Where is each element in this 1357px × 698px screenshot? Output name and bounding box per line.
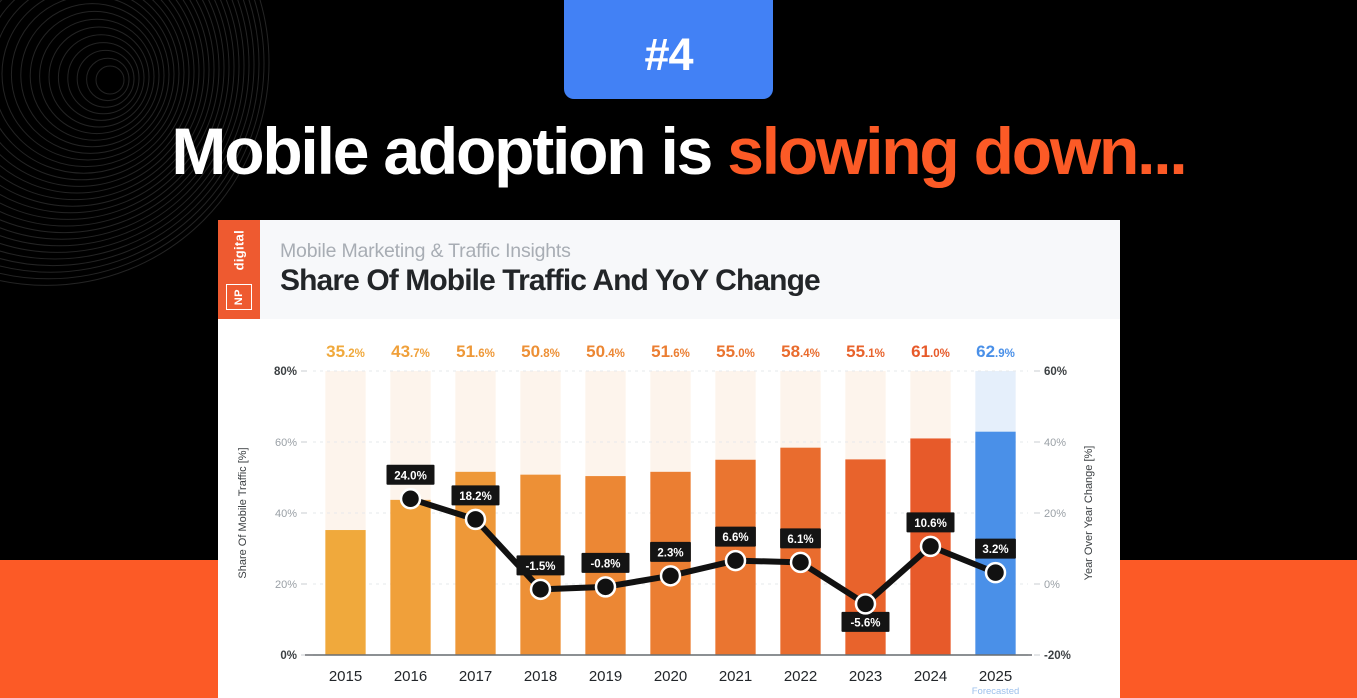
svg-text:Year Over Year Change [%]: Year Over Year Change [%]: [1083, 446, 1095, 581]
svg-text:-5.6%: -5.6%: [850, 617, 880, 629]
svg-text:58.4%: 58.4%: [781, 342, 820, 361]
svg-text:10.6%: 10.6%: [914, 518, 947, 530]
svg-text:2023: 2023: [849, 668, 882, 685]
slide-number-label: #4: [644, 29, 692, 81]
svg-text:20%: 20%: [275, 579, 297, 591]
svg-text:55.0%: 55.0%: [716, 342, 755, 361]
svg-text:2024: 2024: [914, 668, 947, 685]
svg-text:2025: 2025: [979, 668, 1012, 685]
np-digital-logo: digital NP: [218, 220, 260, 319]
headline-plain-text: Mobile adoption is: [171, 114, 727, 188]
logo-np-label: NP: [233, 289, 245, 305]
svg-text:61.0%: 61.0%: [911, 342, 950, 361]
svg-text:51.6%: 51.6%: [651, 342, 690, 361]
svg-text:55.1%: 55.1%: [846, 342, 885, 361]
svg-text:0%: 0%: [1044, 579, 1060, 591]
headline-accent-text: slowing down...: [727, 114, 1185, 188]
svg-text:43.7%: 43.7%: [391, 342, 430, 361]
svg-text:2022: 2022: [784, 668, 817, 685]
svg-text:2020: 2020: [654, 668, 687, 685]
svg-text:50.8%: 50.8%: [521, 342, 560, 361]
logo-np-box: NP: [226, 284, 252, 310]
svg-text:Share Of Mobile Traffic [%]: Share Of Mobile Traffic [%]: [237, 447, 249, 578]
svg-text:2016: 2016: [394, 668, 427, 685]
svg-text:50.4%: 50.4%: [586, 342, 625, 361]
svg-text:24.0%: 24.0%: [394, 470, 427, 482]
svg-text:-1.5%: -1.5%: [525, 561, 555, 573]
chart-card-header: digital NP Mobile Marketing & Traffic In…: [218, 220, 1120, 319]
chart-title: Share Of Mobile Traffic And YoY Change: [280, 264, 820, 298]
svg-text:2017: 2017: [459, 668, 492, 685]
svg-text:20%: 20%: [1044, 508, 1066, 520]
svg-text:40%: 40%: [1044, 437, 1066, 449]
svg-text:-0.8%: -0.8%: [590, 558, 620, 570]
svg-text:2019: 2019: [589, 668, 622, 685]
svg-text:40%: 40%: [275, 508, 297, 520]
slide-number-badge: #4: [564, 0, 773, 99]
svg-text:18.2%: 18.2%: [459, 491, 492, 503]
svg-text:62.9%: 62.9%: [976, 342, 1015, 361]
svg-text:80%: 80%: [274, 366, 297, 378]
svg-text:Forecasted: Forecasted: [972, 686, 1020, 697]
svg-text:2021: 2021: [719, 668, 752, 685]
chart-subtitle: Mobile Marketing & Traffic Insights: [280, 240, 571, 263]
page-title: Mobile adoption is slowing down...: [0, 118, 1357, 184]
svg-text:6.6%: 6.6%: [722, 532, 748, 544]
svg-text:51.6%: 51.6%: [456, 342, 495, 361]
logo-word-label: digital: [232, 230, 247, 270]
svg-text:0%: 0%: [280, 650, 297, 662]
chart-plot-area: 0%20%40%60%80%-20%0%20%40%60%Share Of Mo…: [218, 319, 1120, 698]
slide-canvas: #4 Mobile adoption is slowing down... di…: [0, 0, 1357, 698]
svg-text:2018: 2018: [524, 668, 557, 685]
svg-text:2.3%: 2.3%: [657, 547, 683, 559]
svg-text:35.2%: 35.2%: [326, 342, 365, 361]
chart-svg: 0%20%40%60%80%-20%0%20%40%60%Share Of Mo…: [218, 319, 1120, 698]
svg-text:60%: 60%: [275, 437, 297, 449]
svg-text:2015: 2015: [329, 668, 362, 685]
svg-text:60%: 60%: [1044, 366, 1067, 378]
svg-text:6.1%: 6.1%: [787, 534, 813, 546]
chart-card: digital NP Mobile Marketing & Traffic In…: [218, 220, 1120, 698]
svg-text:-20%: -20%: [1044, 650, 1071, 662]
svg-text:3.2%: 3.2%: [982, 544, 1008, 556]
